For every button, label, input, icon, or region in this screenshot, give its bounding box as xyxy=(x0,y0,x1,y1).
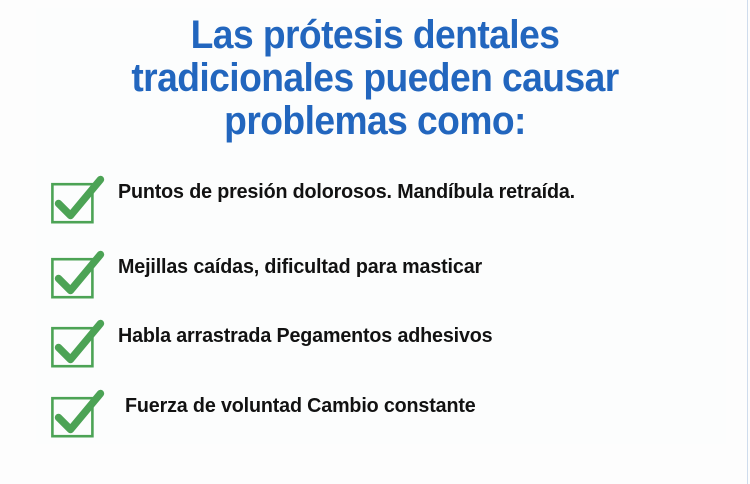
list-item: Habla arrastrada Pegamentos adhesivos xyxy=(0,312,750,382)
page-title: Las prótesis dentales tradicionales pued… xyxy=(0,14,750,143)
list-item-label: Habla arrastrada Pegamentos adhesivos xyxy=(118,324,492,348)
slide-canvas: Las prótesis dentales tradicionales pued… xyxy=(0,0,750,484)
checklist: Puntos de presión dolorosos. Mandíbula r… xyxy=(0,168,750,452)
list-item-label: Puntos de presión dolorosos. Mandíbula r… xyxy=(118,180,575,204)
title-line-3: problemas como: xyxy=(26,100,724,143)
list-item-label: Mejillas caídas, dificultad para mastica… xyxy=(118,255,482,279)
list-item: Mejillas caídas, dificultad para mastica… xyxy=(0,243,750,312)
green-checkbox-icon xyxy=(50,390,106,438)
list-item: Puntos de presión dolorosos. Mandíbula r… xyxy=(0,168,750,243)
title-line-1: Las prótesis dentales xyxy=(26,14,724,57)
green-checkbox-icon xyxy=(50,176,106,224)
list-item-label: Fuerza de voluntad Cambio constante xyxy=(125,394,476,418)
title-line-2: tradicionales pueden causar xyxy=(26,57,724,100)
green-checkbox-icon xyxy=(50,251,106,299)
green-checkbox-icon xyxy=(50,320,106,368)
list-item: Fuerza de voluntad Cambio constante xyxy=(0,382,750,452)
